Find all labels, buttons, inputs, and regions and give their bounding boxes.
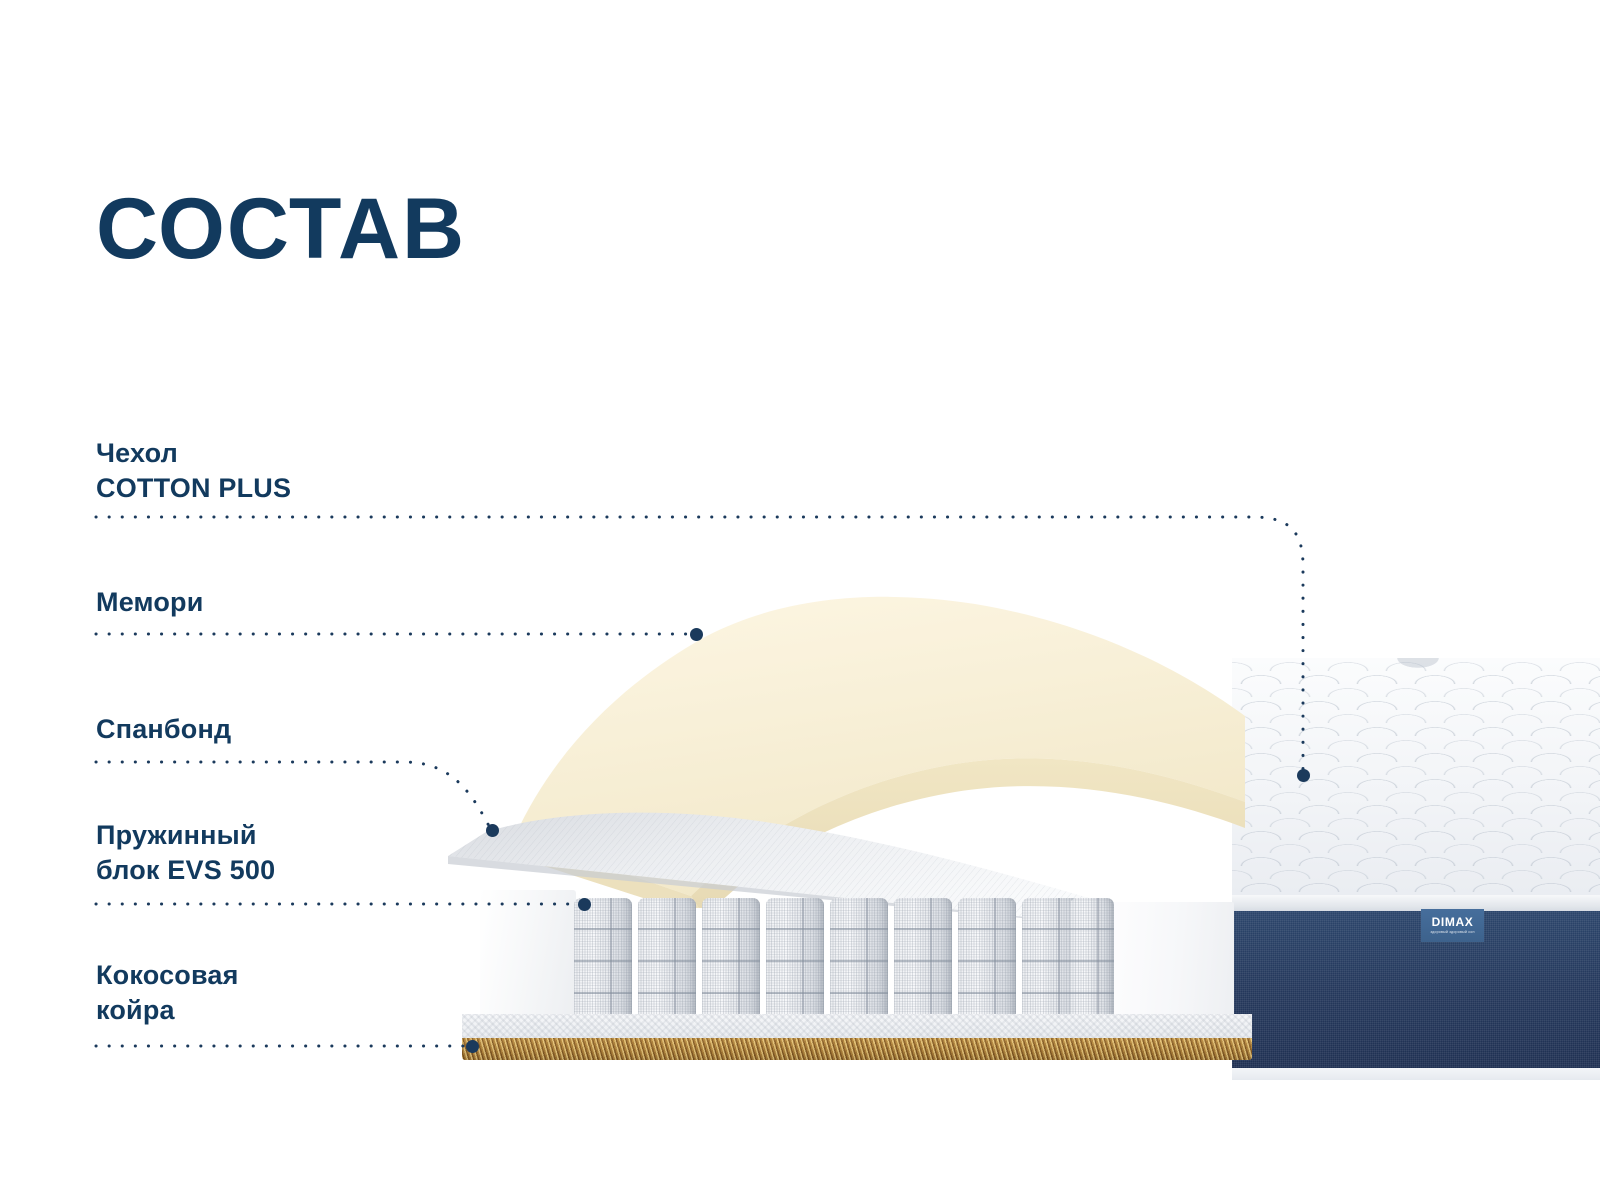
layer-label-memory: Мемори [96, 585, 204, 620]
pocket-spring [638, 898, 696, 1020]
mattress-cutaway-illustration: DIMAX здоровый здоровый сон [0, 0, 1600, 1201]
brand-name: DIMAX [1432, 916, 1474, 928]
leader-dot-memory [690, 628, 703, 641]
leader-dot-coir [466, 1040, 479, 1053]
leader-dot-spunbond [486, 824, 499, 837]
pocket-spring [766, 898, 824, 1020]
slide-canvas: СОСТАВ DIMAX здоровый здоровый сон [0, 0, 1600, 1201]
pocket-spring [574, 898, 632, 1020]
mattress-bottom-trim [1232, 1068, 1600, 1080]
dimax-brand-badge: DIMAX здоровый здоровый сон [1421, 909, 1484, 942]
pocket-spring [702, 898, 760, 1020]
leader-dot-spring [578, 898, 591, 911]
pocket-spring [894, 898, 952, 1020]
coconut-coir-layer [462, 1038, 1252, 1060]
layer-label-spunbond: Спанбонд [96, 712, 231, 747]
leader-dot-cover [1297, 769, 1310, 782]
mattress-side-panel [1232, 911, 1600, 1071]
layer-label-spring-block: Пружинный блок EVS 500 [96, 818, 275, 887]
layer-label-coir: Кокосовая койра [96, 958, 239, 1027]
pocket-spring [958, 898, 1016, 1020]
brand-tagline: здоровый здоровый сон [1430, 931, 1474, 935]
layer-label-cover: Чехол COTTON PLUS [96, 436, 291, 505]
perimeter-foam-left [480, 890, 576, 1032]
cover-quilted-top [1232, 658, 1600, 908]
pocket-spring [830, 898, 888, 1020]
pocket-spring [1070, 898, 1114, 1020]
cover-quilt-pattern-b [1232, 658, 1600, 908]
